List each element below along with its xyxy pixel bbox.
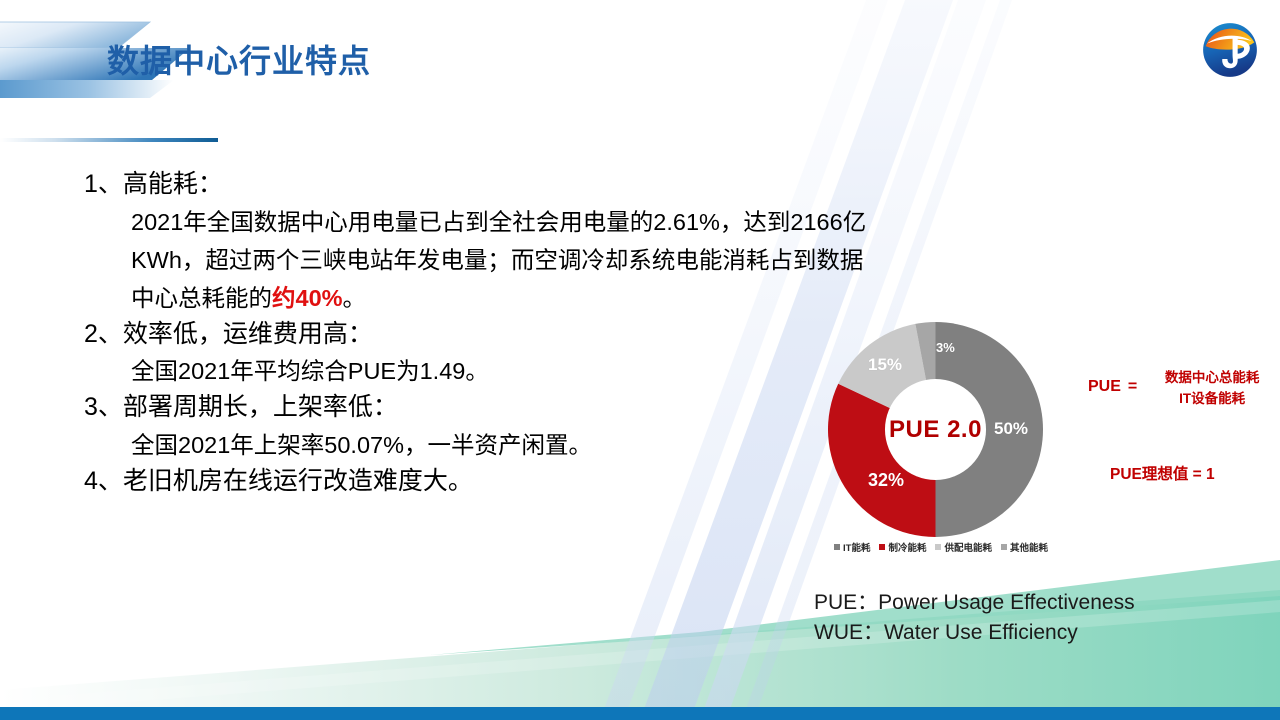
formula-denominator: IT设备能耗 — [1175, 389, 1249, 406]
slice-label-power: 15% — [868, 355, 902, 375]
slice-label-cooling: 32% — [868, 470, 904, 491]
list-item-1-line-3: 中心总耗能的约40%。 — [84, 279, 784, 317]
formula-fraction: 数据中心总能耗 IT设备能耗 — [1144, 366, 1280, 408]
legend-label: IT能耗 — [843, 540, 870, 554]
pue-ideal-value: PUE理想值 = 1 — [1110, 462, 1215, 484]
list-item-4-heading: 4、老旧机房在线运行改造难度大。 — [84, 464, 784, 500]
page-title: 数据中心行业特点 — [107, 36, 371, 82]
legend-swatch-icon — [935, 544, 941, 550]
note-wue: WUE：Water Use Efficiency — [814, 618, 1135, 648]
list-item-3-line-1: 全国2021年上架率50.07%，一半资产闲置。 — [84, 426, 784, 464]
list-item-2-line-1: 全国2021年平均综合PUE为1.49。 — [84, 352, 784, 390]
legend-item: 制冷能耗 — [879, 540, 926, 554]
formula-lhs: PUE — [1088, 378, 1121, 396]
legend-item: 供配电能耗 — [935, 540, 992, 554]
legend-label: 制冷能耗 — [888, 540, 926, 554]
acronym-notes: PUE：Power Usage Effectiveness WUE：Water … — [814, 588, 1135, 648]
legend-swatch-icon — [834, 544, 840, 550]
list-item-3-heading: 3、部署周期长，上架率低： — [84, 390, 784, 426]
list-item-1-line-3-suffix: 。 — [343, 285, 367, 311]
legend-item: 其他能耗 — [1001, 540, 1048, 554]
list-item-1-line-3-prefix: 中心总耗能的 — [131, 285, 272, 311]
list-item-1-heading: 1、高能耗： — [84, 167, 784, 203]
list-item-2-heading: 2、效率低，运维费用高： — [84, 317, 784, 353]
list-item-1-line-2: KWh，超过两个三峡电站年发电量；而空调冷却系统电能消耗占到数据 — [84, 241, 784, 279]
body-content: 1、高能耗： 2021年全国数据中心用电量已占到全社会用电量的2.61%，达到2… — [84, 165, 784, 499]
legend-swatch-icon — [879, 544, 885, 550]
formula-numerator: 数据中心总能耗 — [1161, 370, 1264, 387]
note-pue: PUE：Power Usage Effectiveness — [814, 588, 1135, 618]
company-logo-icon — [1198, 18, 1262, 82]
pue-formula: PUE = 数据中心总能耗 IT设备能耗 — [1088, 366, 1280, 408]
bottom-accent-bar — [0, 707, 1280, 720]
legend-label: 其他能耗 — [1010, 540, 1048, 554]
legend-label: 供配电能耗 — [944, 540, 992, 554]
pue-donut-chart: PUE 2.0 50% 32% 15% 3% IT能耗制冷能耗供配电能耗其他能耗 — [806, 322, 1076, 572]
formula-equals: = — [1128, 378, 1137, 396]
list-item-1-line-1: 2021年全国数据中心用电量已占到全社会用电量的2.61%，达到2166亿 — [84, 203, 784, 241]
slide-canvas: 数据中心行业特点 1、高能耗： 2021年全国数据中心用电量已占到全社会用电量的… — [0, 0, 1280, 720]
title-divider — [0, 138, 218, 142]
legend-swatch-icon — [1001, 544, 1007, 550]
slice-label-other: 3% — [936, 340, 955, 355]
legend-item: IT能耗 — [834, 540, 870, 554]
slice-label-it: 50% — [994, 419, 1028, 439]
chart-legend: IT能耗制冷能耗供配电能耗其他能耗 — [806, 540, 1076, 554]
highlight-40-percent: 约40% — [272, 285, 343, 311]
